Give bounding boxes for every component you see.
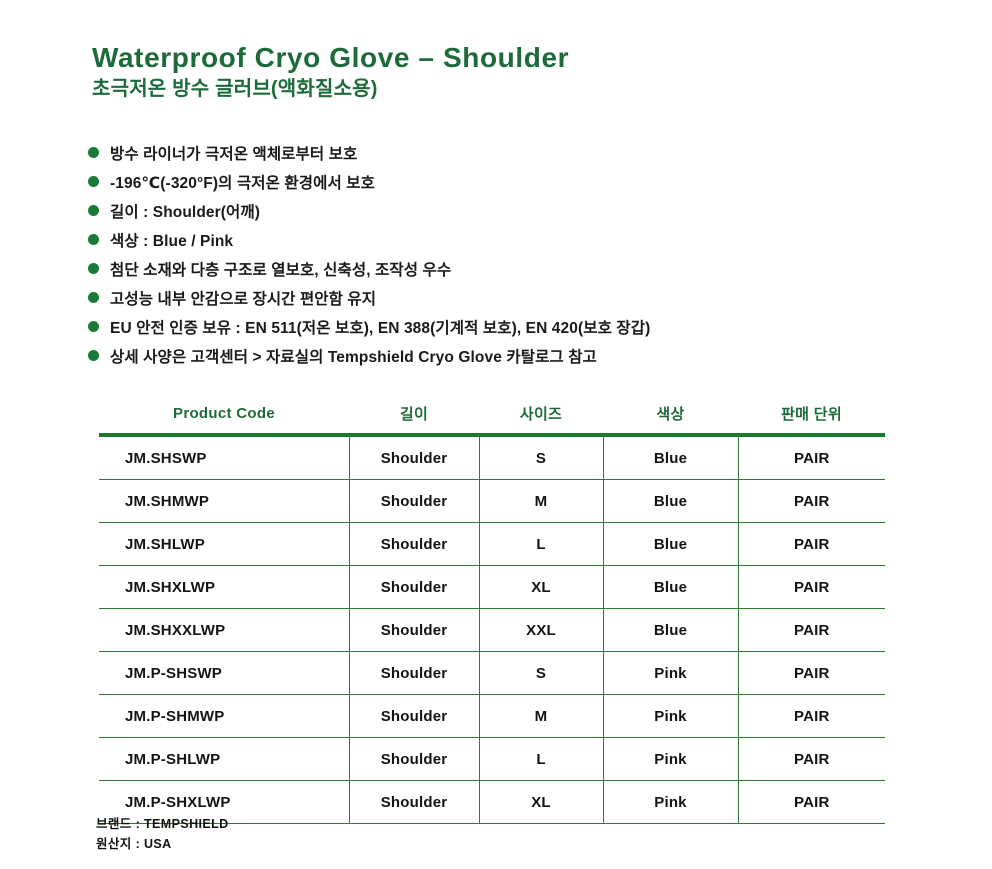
cell-product-code: JM.SHMWP — [99, 480, 349, 523]
feature-list: 방수 라이너가 극저온 액체로부터 보호 -196℃(-320°F)의 극저온 … — [88, 138, 948, 370]
cell-length: Shoulder — [349, 566, 479, 609]
product-spec-table: Product Code 길이 사이즈 색상 판매 단위 JM.SHSWP Sh… — [99, 398, 885, 824]
cell-size: L — [479, 523, 603, 566]
cell-unit: PAIR — [738, 652, 885, 695]
cell-size: M — [479, 480, 603, 523]
feature-text: EU 안전 인증 보유 : EN 511(저온 보호), EN 388(기계적 … — [110, 316, 650, 338]
cell-size: M — [479, 695, 603, 738]
table-row: JM.SHXLWP Shoulder XL Blue PAIR — [99, 566, 885, 609]
cell-color: Pink — [603, 652, 738, 695]
cell-size: S — [479, 652, 603, 695]
cell-unit: PAIR — [738, 781, 885, 824]
feature-text: 색상 : Blue / Pink — [110, 229, 233, 251]
bullet-dot-icon — [88, 234, 99, 245]
cell-product-code: JM.SHXXLWP — [99, 609, 349, 652]
cell-length: Shoulder — [349, 480, 479, 523]
cell-unit: PAIR — [738, 566, 885, 609]
cell-length: Shoulder — [349, 695, 479, 738]
cell-color: Blue — [603, 480, 738, 523]
cell-size: XL — [479, 781, 603, 824]
cell-product-code: JM.SHSWP — [99, 435, 349, 480]
column-header-unit: 판매 단위 — [738, 398, 885, 435]
table-row: JM.P-SHMWP Shoulder M Pink PAIR — [99, 695, 885, 738]
bullet-dot-icon — [88, 350, 99, 361]
list-item: 첨단 소재와 다층 구조로 열보호, 신축성, 조작성 우수 — [88, 254, 948, 283]
cell-length: Shoulder — [349, 781, 479, 824]
bullet-dot-icon — [88, 321, 99, 332]
cell-unit: PAIR — [738, 738, 885, 781]
cell-product-code: JM.SHLWP — [99, 523, 349, 566]
feature-text: 첨단 소재와 다층 구조로 열보호, 신축성, 조작성 우수 — [110, 258, 451, 280]
product-title-en: Waterproof Cryo Glove – Shoulder — [92, 42, 569, 73]
table-row: JM.P-SHLWP Shoulder L Pink PAIR — [99, 738, 885, 781]
cell-unit: PAIR — [738, 435, 885, 480]
bullet-dot-icon — [88, 263, 99, 274]
feature-text: 길이 : Shoulder(어깨) — [110, 200, 260, 222]
cell-length: Shoulder — [349, 609, 479, 652]
product-meta: 브랜드 : TEMPSHIELD 원산지 : USA — [96, 814, 229, 854]
cell-color: Blue — [603, 609, 738, 652]
bullet-dot-icon — [88, 205, 99, 216]
bullet-dot-icon — [88, 292, 99, 303]
column-header-length: 길이 — [349, 398, 479, 435]
cell-color: Pink — [603, 695, 738, 738]
table-row: JM.SHXXLWP Shoulder XXL Blue PAIR — [99, 609, 885, 652]
cell-size: L — [479, 738, 603, 781]
cell-color: Pink — [603, 738, 738, 781]
table-header-row: Product Code 길이 사이즈 색상 판매 단위 — [99, 398, 885, 435]
cell-length: Shoulder — [349, 652, 479, 695]
bullet-dot-icon — [88, 176, 99, 187]
list-item: 색상 : Blue / Pink — [88, 225, 948, 254]
cell-unit: PAIR — [738, 480, 885, 523]
table-row: JM.P-SHSWP Shoulder S Pink PAIR — [99, 652, 885, 695]
cell-color: Blue — [603, 435, 738, 480]
cell-color: Blue — [603, 523, 738, 566]
bullet-dot-icon — [88, 147, 99, 158]
cell-length: Shoulder — [349, 523, 479, 566]
table-row: JM.SHSWP Shoulder S Blue PAIR — [99, 435, 885, 480]
table-row: JM.SHLWP Shoulder L Blue PAIR — [99, 523, 885, 566]
brand-line: 브랜드 : TEMPSHIELD — [96, 814, 229, 834]
cell-size: XL — [479, 566, 603, 609]
list-item: 상세 사양은 고객센터 > 자료실의 Tempshield Cryo Glove… — [88, 341, 948, 370]
column-header-size: 사이즈 — [479, 398, 603, 435]
page-title: Waterproof Cryo Glove – Shoulder 초극저온 방수… — [92, 42, 569, 101]
column-header-product-code: Product Code — [99, 398, 349, 435]
cell-unit: PAIR — [738, 523, 885, 566]
list-item: 길이 : Shoulder(어깨) — [88, 196, 948, 225]
list-item: EU 안전 인증 보유 : EN 511(저온 보호), EN 388(기계적 … — [88, 312, 948, 341]
cell-product-code: JM.P-SHMWP — [99, 695, 349, 738]
feature-text: 고성능 내부 안감으로 장시간 편안함 유지 — [110, 287, 376, 309]
cell-size: S — [479, 435, 603, 480]
column-header-color: 색상 — [603, 398, 738, 435]
product-title-ko: 초극저온 방수 글러브(액화질소용) — [92, 77, 569, 101]
cell-unit: PAIR — [738, 609, 885, 652]
cell-unit: PAIR — [738, 695, 885, 738]
cell-size: XXL — [479, 609, 603, 652]
feature-text: -196℃(-320°F)의 극저온 환경에서 보호 — [110, 171, 375, 193]
list-item: -196℃(-320°F)의 극저온 환경에서 보호 — [88, 167, 948, 196]
cell-color: Pink — [603, 781, 738, 824]
cell-color: Blue — [603, 566, 738, 609]
list-item: 방수 라이너가 극저온 액체로부터 보호 — [88, 138, 948, 167]
list-item: 고성능 내부 안감으로 장시간 편안함 유지 — [88, 283, 948, 312]
cell-product-code: JM.SHXLWP — [99, 566, 349, 609]
origin-line: 원산지 : USA — [96, 834, 229, 854]
feature-text: 상세 사양은 고객센터 > 자료실의 Tempshield Cryo Glove… — [110, 345, 597, 367]
cell-length: Shoulder — [349, 435, 479, 480]
cell-length: Shoulder — [349, 738, 479, 781]
product-detail-page: Waterproof Cryo Glove – Shoulder 초극저온 방수… — [0, 0, 992, 869]
cell-product-code: JM.P-SHSWP — [99, 652, 349, 695]
feature-text: 방수 라이너가 극저온 액체로부터 보호 — [110, 142, 357, 164]
cell-product-code: JM.P-SHLWP — [99, 738, 349, 781]
table-row: JM.SHMWP Shoulder M Blue PAIR — [99, 480, 885, 523]
